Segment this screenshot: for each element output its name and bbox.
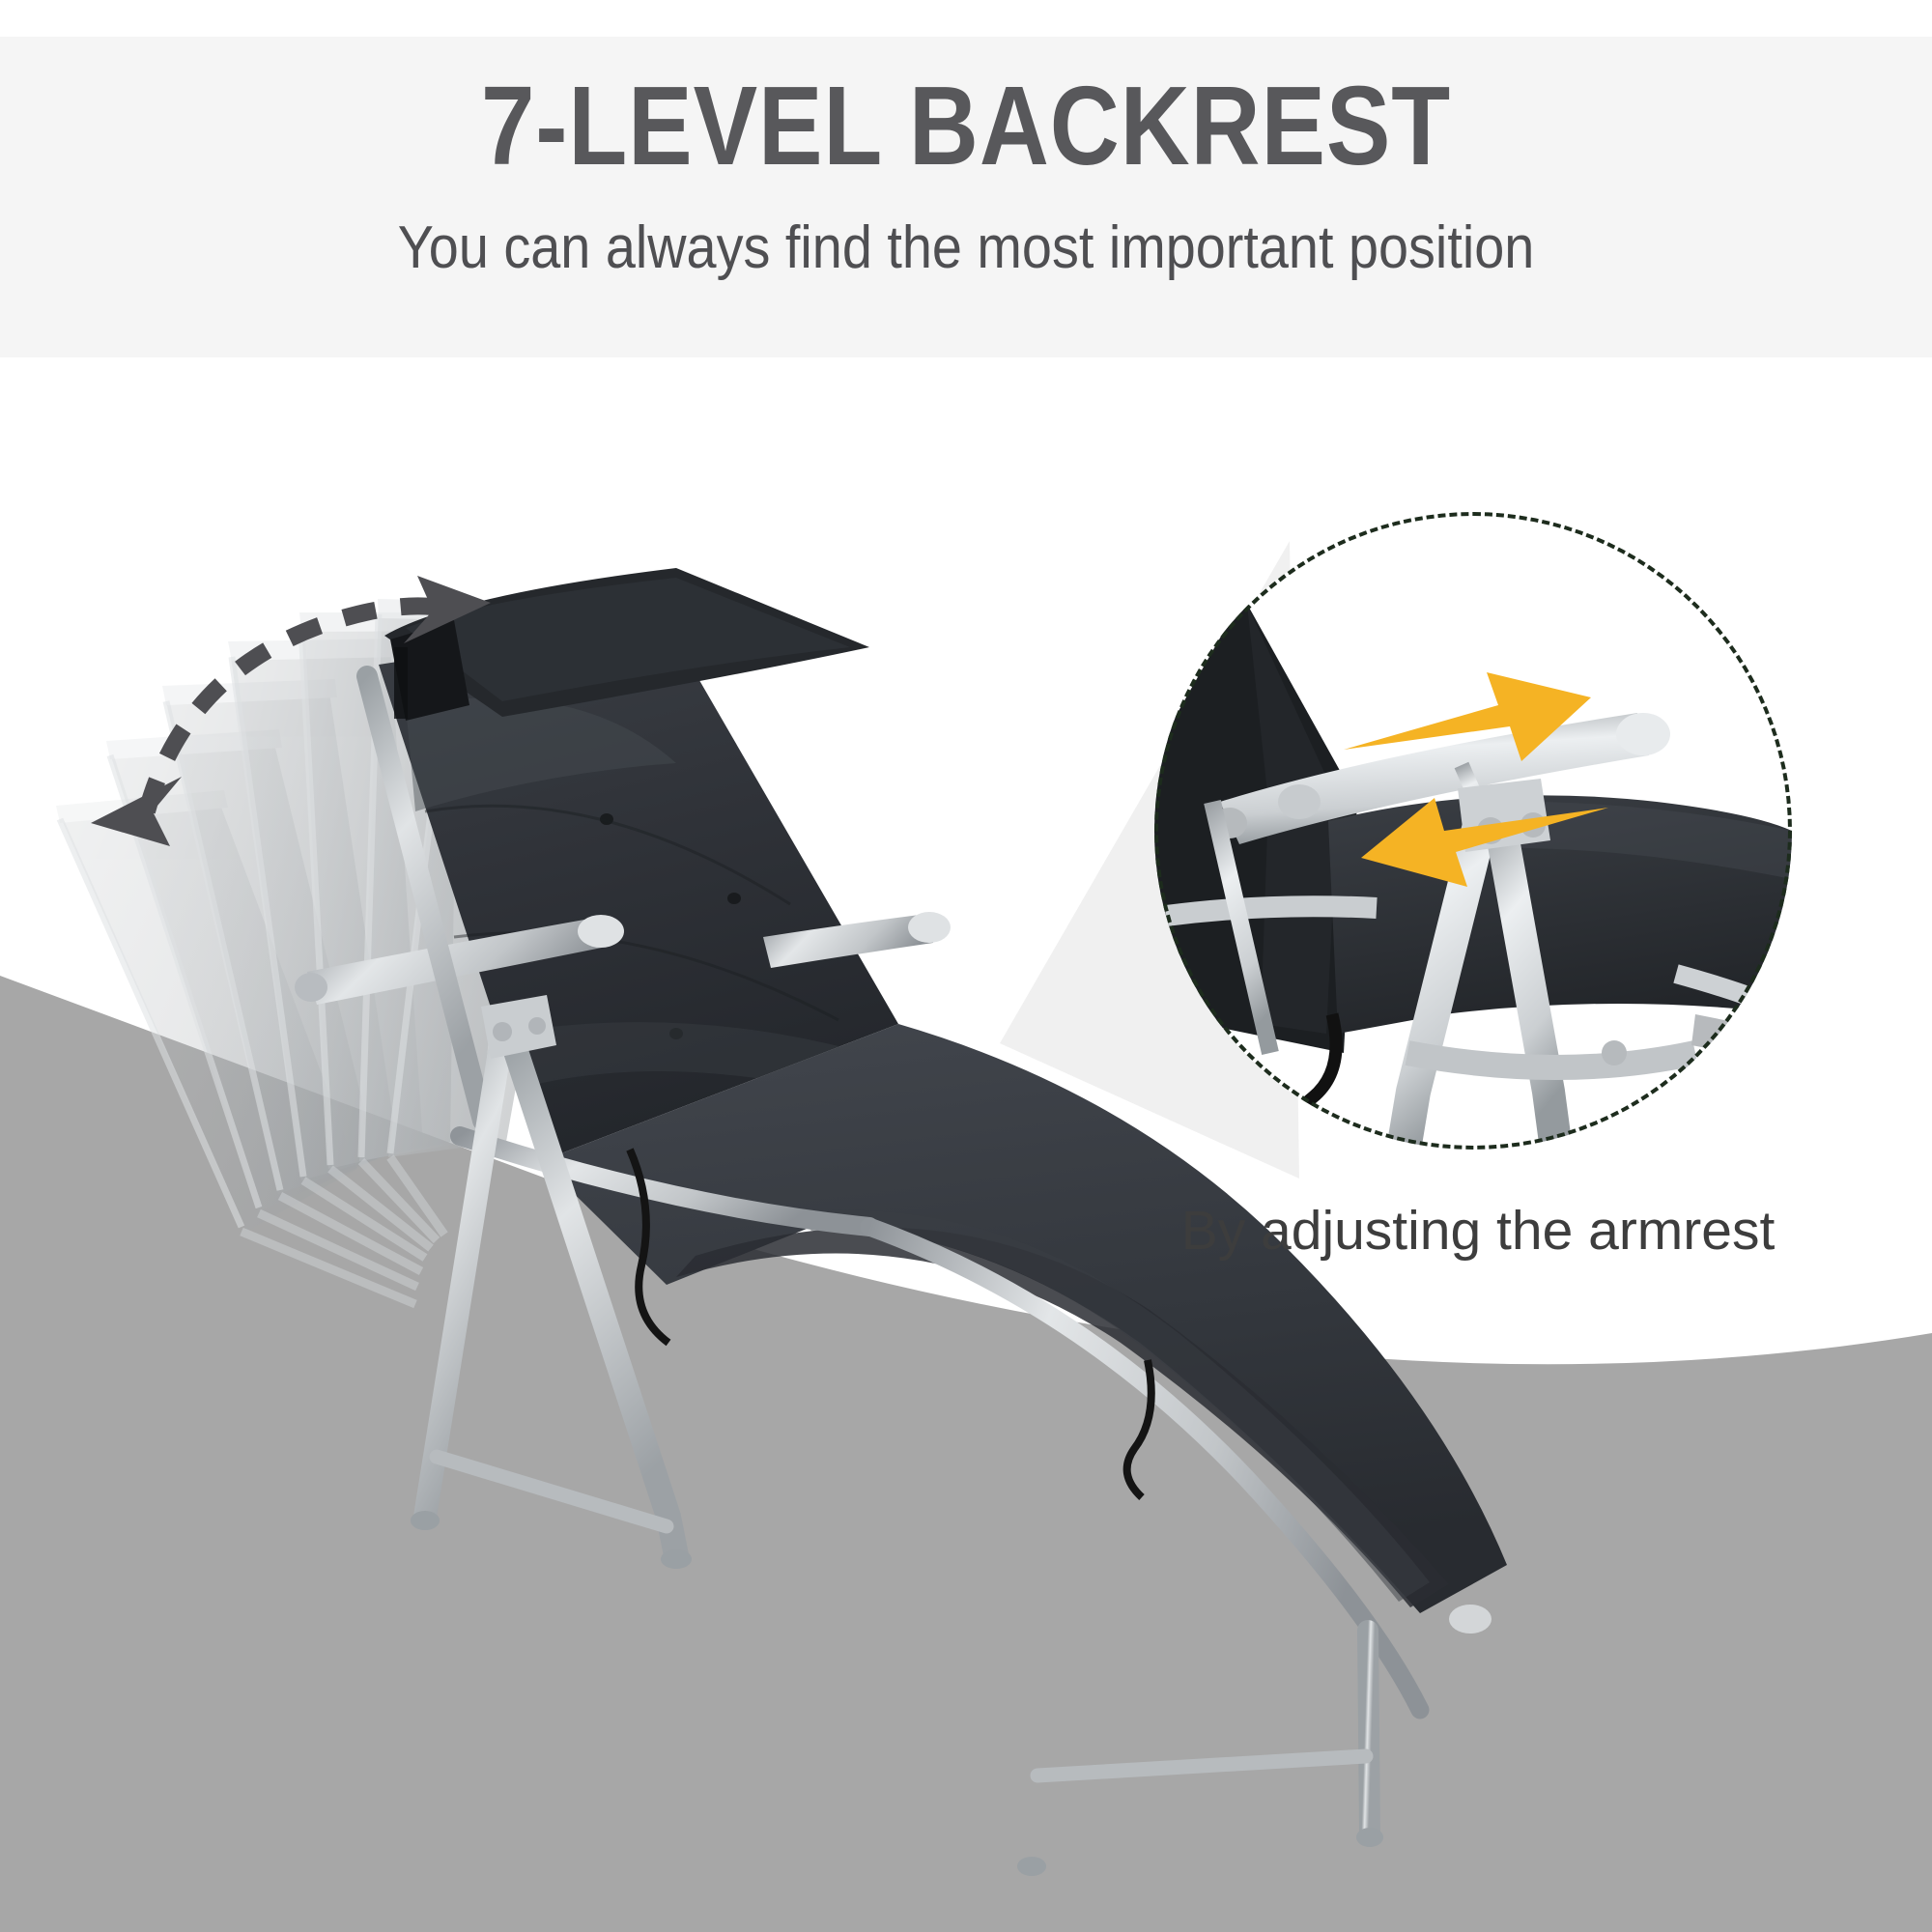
arrowhead-left [91, 777, 182, 846]
infographic-page: 7-LEVEL BACKREST You can always find the… [0, 0, 1932, 1932]
footrest-cap [1449, 1605, 1492, 1634]
inset-photo [1154, 512, 1792, 1150]
page-title: 7-LEVEL BACKREST [135, 70, 1797, 182]
inset-caption: By adjusting the armrest [1140, 1204, 1816, 1259]
armrest-detail-inset [1145, 502, 1792, 1179]
page-subtitle: You can always find the most important p… [97, 218, 1835, 278]
reclining-range-arrow [77, 570, 502, 850]
